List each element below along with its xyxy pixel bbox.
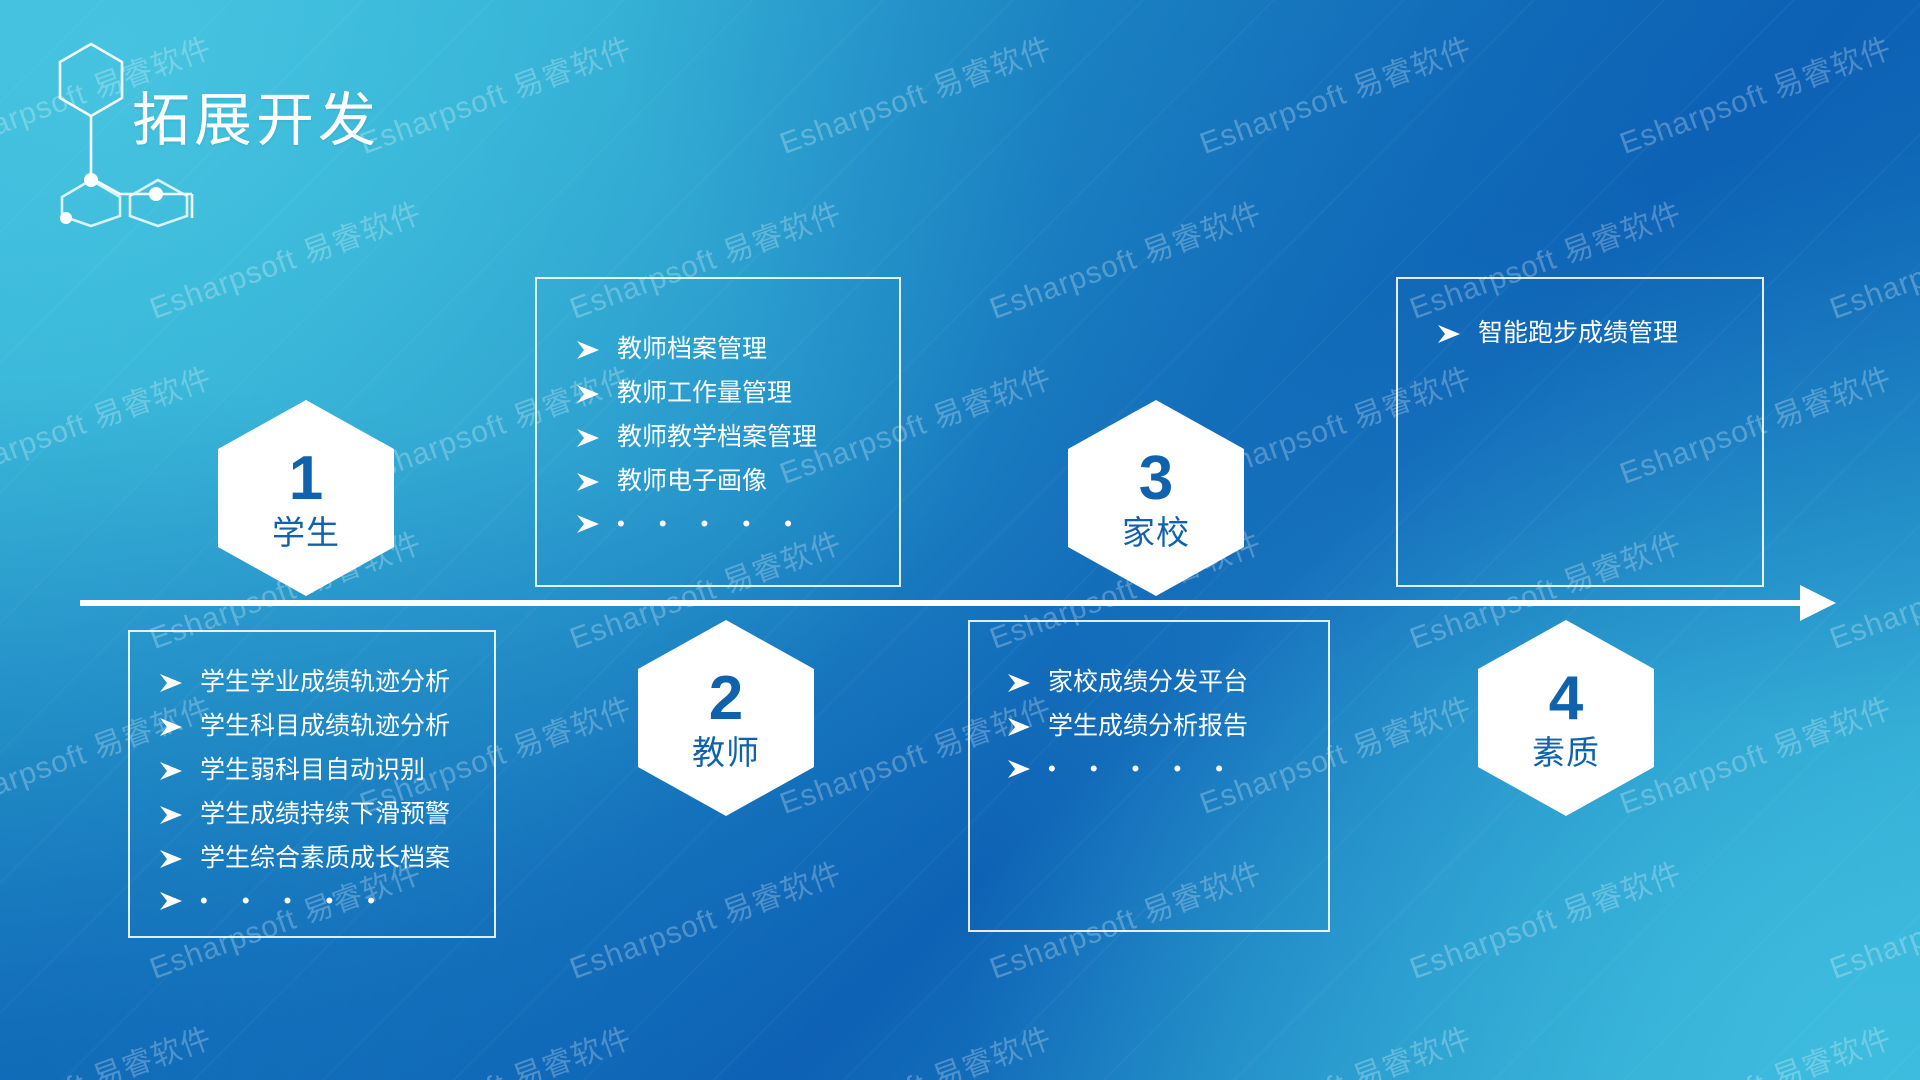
list-item-label: • • • • • xyxy=(200,890,389,912)
slide-canvas: Esharpsoft 易睿软件Esharpsoft 易睿软件Esharpsoft… xyxy=(0,0,1920,1080)
node-label: 学生 xyxy=(272,516,340,549)
chevron-bullet-icon xyxy=(575,427,601,449)
student-item-list: 学生学业成绩轨迹分析学生科目成绩轨迹分析学生弱科目自动识别学生成绩持续下滑预警学… xyxy=(130,632,494,912)
node-number: 3 xyxy=(1139,448,1173,510)
content-box-quality: 智能跑步成绩管理 xyxy=(1396,277,1764,587)
page-title: 拓展开发 xyxy=(132,92,380,150)
homeschool-item-list: 家校成绩分发平台学生成绩分析报告• • • • • xyxy=(970,622,1328,780)
list-item-label: 智能跑步成绩管理 xyxy=(1478,321,1678,346)
list-item: 教师工作量管理 xyxy=(575,381,899,406)
chevron-bullet-icon xyxy=(158,672,184,694)
list-item: 学生科目成绩轨迹分析 xyxy=(158,714,494,739)
chevron-bullet-icon xyxy=(158,890,184,912)
list-item-label: 学生科目成绩轨迹分析 xyxy=(200,714,450,739)
list-item: 学生学业成绩轨迹分析 xyxy=(158,670,494,695)
node-label: 教师 xyxy=(692,736,760,769)
list-item: 智能跑步成绩管理 xyxy=(1436,321,1762,346)
chevron-bullet-icon xyxy=(575,471,601,493)
list-item-label: 学生综合素质成长档案 xyxy=(200,846,450,871)
node-label: 素质 xyxy=(1532,736,1600,769)
node-number: 4 xyxy=(1549,668,1583,730)
list-item-label: 教师档案管理 xyxy=(617,337,767,362)
content-box-homeschool: 家校成绩分发平台学生成绩分析报告• • • • • xyxy=(968,620,1330,932)
list-item: 学生成绩分析报告 xyxy=(1006,714,1328,739)
list-item: 学生成绩持续下滑预警 xyxy=(158,802,494,827)
content-box-teacher: 教师档案管理教师工作量管理教师教学档案管理教师电子画像• • • • • xyxy=(535,277,901,587)
list-item: • • • • • xyxy=(575,513,899,535)
list-item-label: • • • • • xyxy=(1048,758,1237,780)
chevron-bullet-icon xyxy=(575,513,601,535)
chevron-bullet-icon xyxy=(1006,716,1032,738)
list-item-label: 教师工作量管理 xyxy=(617,381,792,406)
chevron-bullet-icon xyxy=(158,716,184,738)
node-number: 2 xyxy=(709,668,743,730)
chevron-bullet-icon xyxy=(575,383,601,405)
list-item-label: 学生弱科目自动识别 xyxy=(200,758,425,783)
node-label: 家校 xyxy=(1122,516,1190,549)
list-item-label: 学生学业成绩轨迹分析 xyxy=(200,670,450,695)
list-item-label: 学生成绩持续下滑预警 xyxy=(200,802,450,827)
list-item: 教师教学档案管理 xyxy=(575,425,899,450)
chevron-bullet-icon xyxy=(158,760,184,782)
list-item: 教师电子画像 xyxy=(575,469,899,494)
list-item: • • • • • xyxy=(1006,758,1328,780)
content-box-student: 学生学业成绩轨迹分析学生科目成绩轨迹分析学生弱科目自动识别学生成绩持续下滑预警学… xyxy=(128,630,496,938)
chevron-bullet-icon xyxy=(575,339,601,361)
arrow-right-icon xyxy=(1800,585,1836,621)
quality-item-list: 智能跑步成绩管理 xyxy=(1398,279,1762,346)
list-item-label: 教师教学档案管理 xyxy=(617,425,817,450)
chevron-bullet-icon xyxy=(1006,672,1032,694)
list-item-label: • • • • • xyxy=(617,513,806,535)
list-item: 学生弱科目自动识别 xyxy=(158,758,494,783)
chevron-bullet-icon xyxy=(158,848,184,870)
timeline-axis xyxy=(80,600,1810,606)
list-item: 学生综合素质成长档案 xyxy=(158,846,494,871)
list-item: 教师档案管理 xyxy=(575,337,899,362)
list-item: 家校成绩分发平台 xyxy=(1006,670,1328,695)
list-item: • • • • • xyxy=(158,890,494,912)
list-item-label: 学生成绩分析报告 xyxy=(1048,714,1248,739)
chevron-bullet-icon xyxy=(1006,758,1032,780)
teacher-item-list: 教师档案管理教师工作量管理教师教学档案管理教师电子画像• • • • • xyxy=(537,279,899,535)
list-item-label: 家校成绩分发平台 xyxy=(1048,670,1248,695)
chevron-bullet-icon xyxy=(1436,323,1462,345)
chevron-bullet-icon xyxy=(158,804,184,826)
list-item-label: 教师电子画像 xyxy=(617,469,767,494)
node-number: 1 xyxy=(289,448,323,510)
